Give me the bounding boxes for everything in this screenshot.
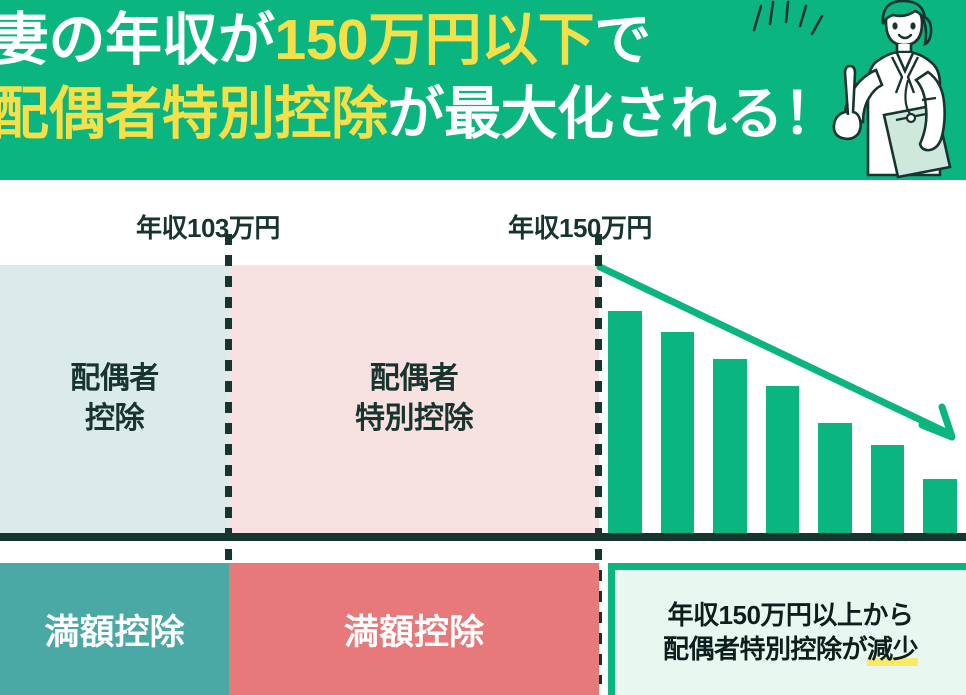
note-line-2: 配偶者特別控除が減少 [663,633,918,666]
region-special-deduction-label: 配偶者 特別控除 [355,359,473,438]
region-special-deduction-line1: 配偶者 [355,359,473,399]
bar-1 [608,311,642,533]
tick-label-103: 年収103万円 [136,208,280,245]
bar-3 [713,359,747,533]
header-line2-suffix: が最大化される！ [388,82,840,146]
header-line1-prefix: 妻の年収が [0,8,275,72]
header-line1-highlight: 150万円以下 [275,8,595,72]
chart-baseline [0,533,966,541]
bar-6 [871,445,905,533]
declining-bars [599,265,966,533]
header-line2-highlight: 配偶者特別控除 [0,82,388,146]
note-box: 年収150万円以上から 配偶者特別控除が減少 [608,563,966,695]
note-line-2-highlight: 減少 [867,634,918,666]
note-text: 年収150万円以上から 配偶者特別控除が減少 [663,599,918,666]
band-full-deduction-salmon: 満額控除 [229,563,599,695]
note-line-1: 年収150万円以上から [663,599,918,632]
region-spouse-deduction-line2: 控除 [70,399,159,439]
header-banner: 妻の年収が150万円以下で 配偶者特別控除が最大化される！ [0,0,966,180]
band-salmon-label: 満額控除 [344,604,484,655]
region-special-deduction-line2: 特別控除 [355,399,473,439]
region-spouse-deduction-line1: 配偶者 [70,359,159,399]
header-line1-suffix: で [594,8,651,72]
region-spouse-deduction-label: 配偶者 控除 [70,359,159,438]
bar-2 [661,332,695,533]
region-spouse-deduction: 配偶者 控除 [0,265,229,533]
tick-label-150: 年収150万円 [508,208,652,245]
header-line-2: 配偶者特別控除が最大化される！ [0,86,840,143]
bar-7 [923,479,957,533]
band-full-deduction-teal: 満額控除 [0,563,229,695]
note-line-2-prefix: 配偶者特別控除が [663,634,867,664]
band-teal-label: 満額控除 [44,604,184,655]
bar-5 [818,423,852,533]
bar-4 [766,386,800,533]
infographic-root: 妻の年収が150万円以下で 配偶者特別控除が最大化される！ [0,0,966,695]
header-line-1: 妻の年収が150万円以下で [0,12,651,69]
region-special-deduction: 配偶者 特別控除 [229,265,599,533]
